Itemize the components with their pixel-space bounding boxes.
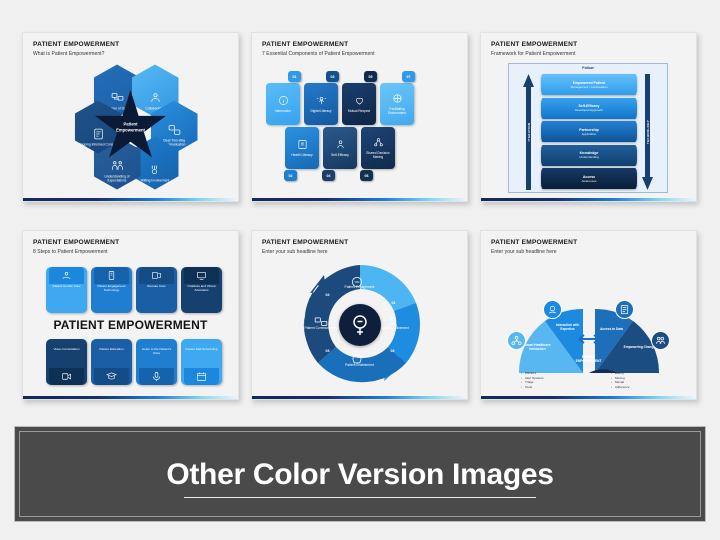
technology-arrow-down: TECHNOLOGY [642, 74, 653, 190]
component-card-self-efficacy[interactable]: 04 Self-Efficacy [323, 127, 357, 169]
layer-sub: Awareness [582, 179, 597, 183]
slide-2-footer-bar [252, 198, 467, 201]
collaborate-icon [149, 91, 162, 104]
right-bullet-list: Eating Moving Mental Adherence [611, 371, 630, 389]
framework-layer-knowledge[interactable]: Knowledge Understanding [541, 145, 637, 166]
banner-inner-frame: Other Color Version Images [19, 431, 701, 517]
component-label: Self-Efficacy [325, 153, 356, 157]
slide-thumbnail-3[interactable]: PATIENT EMPOWERMENT Framework for Patien… [480, 32, 697, 202]
framework-layer-access[interactable]: Access Awareness [541, 168, 637, 189]
number-text: 03 [331, 75, 335, 79]
components-top-row: 01 Information 03 Digital Literacy [266, 83, 414, 125]
step-label: Patient Education [93, 348, 130, 352]
slide-1-footer-bar [23, 198, 238, 201]
fan-label-access-to-data: Access to Data [595, 327, 629, 331]
number-text: 01 [293, 75, 297, 79]
step-card-patient-centric-care[interactable]: Patient Centric Care [46, 267, 87, 313]
hex-label: Understanding of Expectations [97, 174, 137, 182]
calendar-icon [196, 371, 207, 382]
step-label: Video Consultation [48, 348, 85, 352]
slide-thumbnail-5[interactable]: PATIENT EMPOWERMENT Enter your sub headl… [251, 230, 468, 400]
banner-divider [184, 497, 536, 499]
component-card-shared-decision-making[interactable]: 06 Shared Decision Making [361, 127, 395, 169]
step-label: Chatbots and Virtual Assistants [183, 285, 220, 293]
slide-6-body: Smart Healthcare Interaction Interaction… [481, 255, 696, 395]
layer-sub: Management / Continuation [571, 85, 608, 89]
number-text: 05 [369, 75, 373, 79]
communication-icon [314, 315, 328, 329]
listen-icon [151, 371, 162, 382]
number-text: 02 [289, 174, 293, 178]
list-item: Tools [521, 385, 544, 390]
digital-literacy-icon [316, 95, 327, 106]
smart-healthcare-icon-badge [507, 331, 526, 350]
layer-sub: Application [582, 132, 597, 136]
left-bullet-list: PROM's Alert Systems Triage Tools [521, 371, 544, 389]
facilitating-icon [392, 93, 403, 104]
layer-sub: Understanding [579, 155, 599, 159]
hexagon-star-diagram: Discussion of Options Collaborative Clea… [56, 65, 206, 190]
framework-layer-empowered-patient[interactable]: Empowered Patient Management / Continuat… [541, 74, 637, 95]
banner-title: Other Color Version Images [20, 458, 700, 492]
component-number-tab: 03 [326, 71, 339, 82]
chatbot-icon [196, 270, 207, 281]
slide-thumbnail-6[interactable]: PATIENT EMPOWERMENT Enter your sub headl… [480, 230, 697, 400]
fan-diagram: Smart Healthcare Interaction Interaction… [505, 299, 673, 373]
cycle-number-02: 02 [391, 349, 395, 353]
slide-2-canvas: PATIENT EMPOWERMENT 7 Essential Componen… [252, 33, 467, 201]
iteration-label: ITERATION [527, 123, 531, 142]
slide-6-title: PATIENT EMPOWERMENT [491, 239, 577, 246]
component-label: Mutual Respect [344, 109, 375, 113]
number-text: 07 [407, 75, 411, 79]
slide-5-footer-bar [252, 396, 467, 399]
component-label: Information [268, 109, 299, 113]
step-icon-panel [139, 267, 174, 284]
involvement-icon [386, 315, 400, 329]
framework-container: Follow ITERATION TECHNOLOGY [508, 63, 668, 193]
slide-4-title: PATIENT EMPOWERMENT [33, 239, 119, 246]
communication-icon [168, 123, 181, 136]
component-number-tab: 02 [284, 170, 297, 181]
slide-4-subtitle: 8 Steps to Patient Empowerment [33, 249, 108, 255]
patient-centric-icon [61, 270, 72, 281]
component-number-tab: 06 [360, 170, 373, 181]
step-icon-panel [139, 368, 174, 385]
slide-1-canvas: PATIENT EMPOWERMENT What is Patient Empo… [23, 33, 238, 201]
slide-5-title: PATIENT EMPOWERMENT [262, 239, 348, 246]
mutual-respect-icon [354, 95, 365, 106]
slide-2-title: PATIENT EMPOWERMENT [262, 41, 348, 48]
cycle-number-04: 04 [326, 293, 330, 297]
slide-4-body: Patient Centric Care Patient Engagement … [23, 255, 238, 395]
number-text: 06 [365, 174, 369, 178]
component-number-tab: 01 [288, 71, 301, 82]
step-card-chatbots-virtual-assistants[interactable]: Chatbots and Virtual Assistants [181, 267, 222, 313]
health-literacy-icon [297, 139, 308, 150]
fan-hub-label: PATIENT EMPOWERMENT [572, 355, 606, 363]
hex-label: Willing Involvement [135, 178, 175, 182]
component-label: Health Literacy [287, 153, 318, 157]
step-label: Patient Centric Care [48, 285, 85, 289]
slide-thumbnail-1[interactable]: PATIENT EMPOWERMENT What is Patient Empo… [22, 32, 239, 202]
slide-4-canvas: PATIENT EMPOWERMENT 8 Steps to Patient E… [23, 231, 238, 399]
step-label: Listen to the Patient's Voice [138, 348, 175, 356]
slide-3-subtitle: Framework for Patient Empowerment [491, 51, 575, 57]
slide-3-footer-bar [481, 198, 696, 201]
step-label: Patient Self-Scheduling [183, 348, 220, 352]
other-color-version-banner: Other Color Version Images [14, 426, 706, 522]
engagement-icon [350, 275, 364, 289]
cycle-hub [339, 304, 381, 346]
remote-care-icon [151, 270, 162, 281]
education-icon [106, 371, 117, 382]
consent-icon [92, 127, 105, 140]
component-number-tab: 05 [364, 71, 377, 82]
discussion-icon [111, 91, 124, 104]
step-label: Remote Care [138, 285, 175, 289]
step-icon-panel [49, 368, 84, 385]
slide-6-subtitle: Enter your sub headline here [491, 249, 557, 255]
center-star-label: Patient Empowerment [111, 122, 151, 133]
slide-thumbnail-4[interactable]: PATIENT EMPOWERMENT 8 Steps to Patient E… [22, 230, 239, 400]
info-icon [278, 95, 289, 106]
patient-empowerment-band: PATIENT EMPOWERMENT [23, 318, 238, 332]
layer-sub: Developed Approach [575, 108, 603, 112]
slide-3-canvas: PATIENT EMPOWERMENT Framework for Patien… [481, 33, 696, 201]
expertise-icon-badge [543, 300, 562, 319]
data-icon [619, 304, 630, 315]
step-card-patient-education[interactable]: Patient Education [91, 339, 132, 385]
number-text: 04 [327, 174, 331, 178]
smart-healthcare-icon [511, 335, 522, 346]
slide-thumbnail-2[interactable]: PATIENT EMPOWERMENT 7 Essential Componen… [251, 32, 468, 202]
framework-layer-self-efficacy[interactable]: Self-Efficacy Developed Approach [541, 98, 637, 119]
fan-label-smart-healthcare: Smart Healthcare Interaction [521, 343, 555, 351]
step-icon-panel [49, 267, 84, 284]
slide-2-subtitle: 7 Essential Components of Patient Empowe… [262, 51, 375, 57]
self-efficacy-icon [335, 139, 346, 150]
slide-6-footer-bar [481, 396, 696, 399]
change-icon [655, 335, 666, 346]
step-icon-panel [184, 267, 219, 284]
shared-decision-icon [373, 137, 384, 148]
component-card-information[interactable]: 01 Information [266, 83, 300, 125]
slide-grid: PATIENT EMPOWERMENT What is Patient Empo… [22, 32, 698, 400]
step-icon-panel [94, 267, 129, 284]
component-label: Digital Literacy [306, 109, 337, 113]
technology-label: TECHNOLOGY [646, 120, 650, 144]
fan-label-interaction-expertise: Interaction with Expertise [551, 323, 585, 331]
slide-1-subtitle: What is Patient Empowerment? [33, 51, 104, 57]
involvement-icon [149, 163, 162, 176]
framework-layer-stack: Empowered Patient Management / Continuat… [541, 74, 637, 192]
step-card-remote-care[interactable]: Remote Care [136, 267, 177, 313]
slide-3-title: PATIENT EMPOWERMENT [491, 41, 577, 48]
list-item: Adherence [611, 385, 630, 390]
step-label: Patient Engagement Technology [93, 285, 130, 293]
change-icon-badge [651, 331, 670, 350]
slide-1-title: PATIENT EMPOWERMENT [33, 41, 119, 48]
component-card-facilitating-environment[interactable]: 07 Facilitating Environment [380, 83, 414, 125]
slide-5-subtitle: Enter your sub headline here [262, 249, 328, 255]
expertise-icon [547, 304, 558, 315]
slide-6-canvas: PATIENT EMPOWERMENT Enter your sub headl… [481, 231, 696, 399]
component-card-digital-literacy[interactable]: 03 Digital Literacy [304, 83, 338, 125]
enablement-icon [350, 353, 364, 367]
slide-5-canvas: PATIENT EMPOWERMENT Enter your sub headl… [252, 231, 467, 399]
expectations-icon [111, 159, 124, 172]
components-bottom-row: 02 Health Literacy 04 Self-Efficacy [285, 127, 395, 169]
slide-1-body: Discussion of Options Collaborative Clea… [23, 57, 238, 197]
cycle-number-03: 03 [326, 349, 330, 353]
component-label: Shared Decision Making [363, 151, 394, 159]
step-card-listen-to-patients-voice[interactable]: Listen to the Patient's Voice [136, 339, 177, 385]
component-number-tab: 07 [402, 71, 415, 82]
data-icon-badge [615, 300, 634, 319]
step-icon-panel [184, 368, 219, 385]
engagement-tech-icon [106, 270, 117, 281]
component-card-mutual-respect[interactable]: 05 Mutual Respect [342, 83, 376, 125]
power-fist-icon [348, 313, 372, 337]
slide-4-footer-bar [23, 396, 238, 399]
iteration-arrow-up: ITERATION [523, 74, 534, 190]
step-icon-panel [94, 368, 129, 385]
cycle-number-01: 01 [392, 301, 396, 305]
slide-2-body: 01 Information 03 Digital Literacy [252, 57, 467, 197]
step-card-patient-engagement-technology[interactable]: Patient Engagement Technology [91, 267, 132, 313]
step-card-video-consultation[interactable]: Video Consultation [46, 339, 87, 385]
video-consult-icon [61, 371, 72, 382]
slide-3-body: Follow ITERATION TECHNOLOGY [481, 57, 696, 197]
powerpoint-template-preview: PATIENT EMPOWERMENT What is Patient Empo… [0, 0, 720, 540]
cycle-diagram: Patient Engagement Patient Involvement P… [298, 263, 422, 387]
component-number-tab: 04 [322, 170, 335, 181]
step-card-patient-self-scheduling[interactable]: Patient Self-Scheduling [181, 339, 222, 385]
component-card-health-literacy[interactable]: 02 Health Literacy [285, 127, 319, 169]
slide-5-body: Patient Engagement Patient Involvement P… [252, 255, 467, 395]
component-label: Facilitating Environment [382, 107, 413, 115]
framework-layer-partnership[interactable]: Partnership Application [541, 121, 637, 142]
framework-box-title: Follow [509, 66, 667, 70]
